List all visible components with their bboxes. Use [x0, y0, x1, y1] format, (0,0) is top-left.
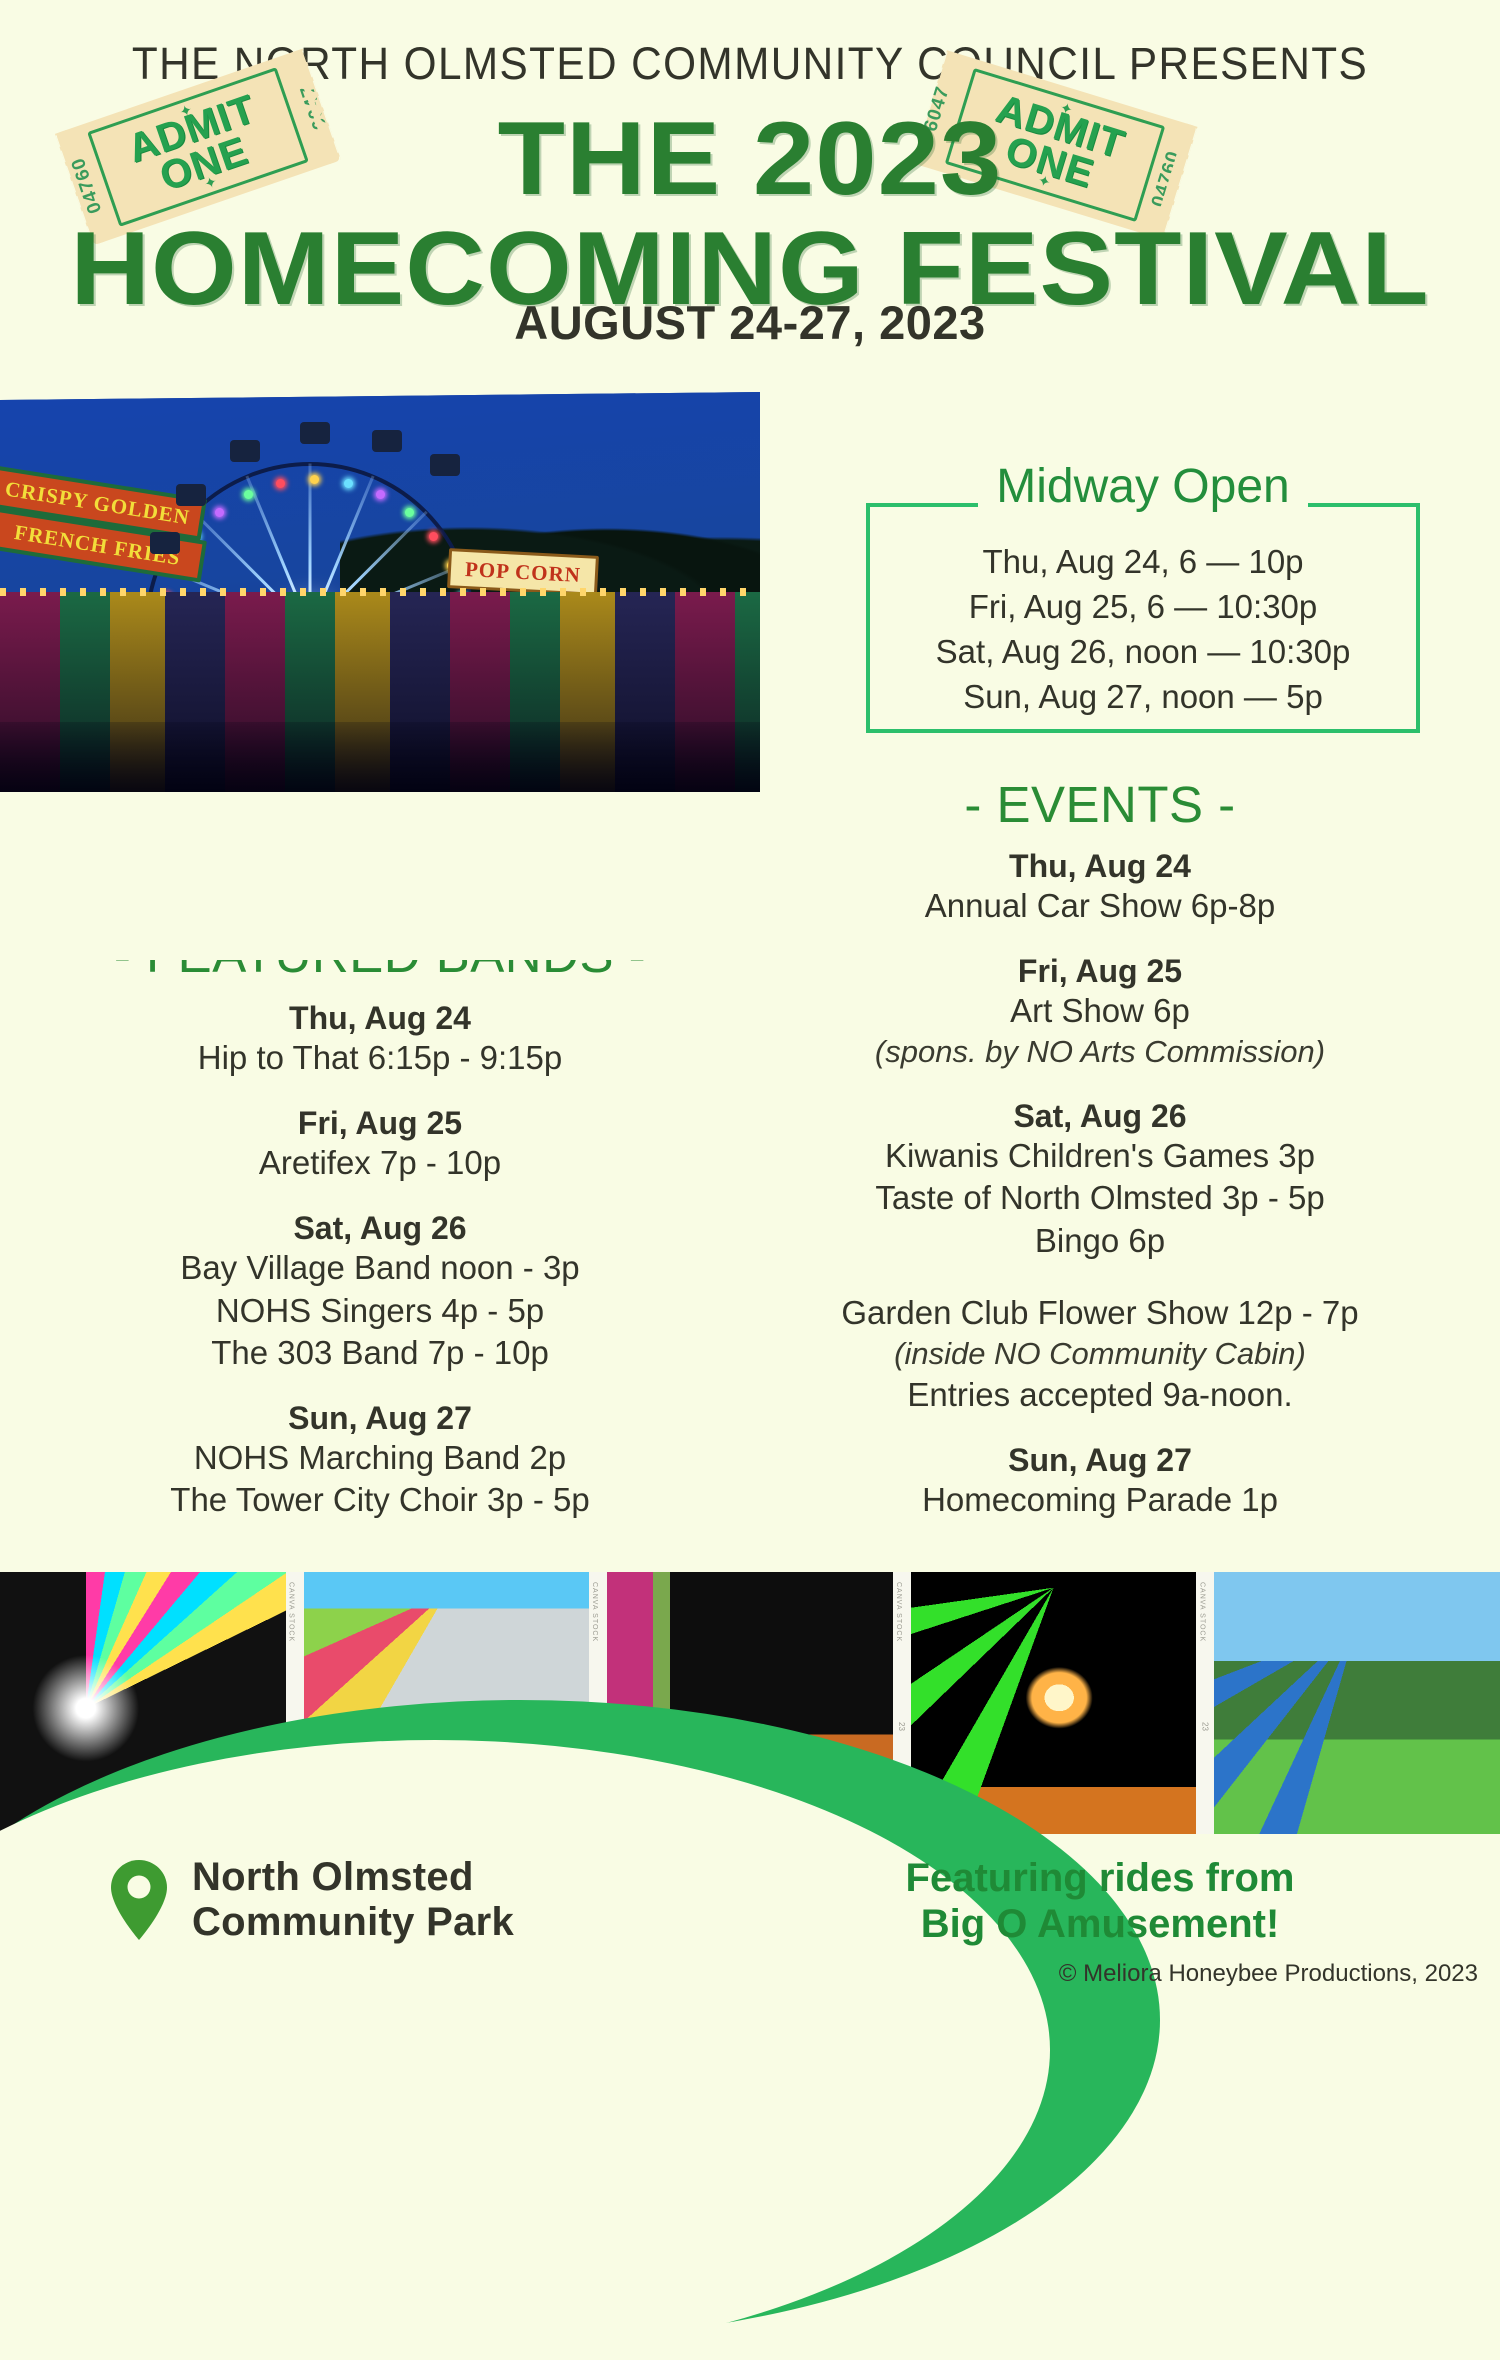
ferris-wheel-light [276, 479, 285, 488]
ferris-wheel-light [215, 508, 224, 517]
midway-hours-row: Sun, Aug 27, noon — 5p [866, 675, 1420, 720]
schedule-day-label: Thu, Aug 24 [40, 1000, 720, 1037]
schedule-entry: Entries accepted 9a-noon. [760, 1374, 1440, 1416]
schedule-spacer [760, 1262, 1440, 1292]
ferris-wheel-car [230, 440, 260, 462]
midway-hours-row: Sat, Aug 26, noon — 10:30p [866, 630, 1420, 675]
midway-hours-row: Thu, Aug 24, 6 — 10p [866, 540, 1420, 585]
schedule-entry: The Tower City Choir 3p - 5p [40, 1479, 720, 1521]
strip-separator: CANVA STOCK23 [1196, 1572, 1214, 1834]
rides-line-2: Big O Amusement! [760, 1901, 1440, 1947]
schedule-day-label: Sun, Aug 27 [760, 1442, 1440, 1479]
schedule-entry: Annual Car Show 6p-8p [760, 885, 1440, 927]
bands-heading-notch [90, 900, 650, 960]
ferris-wheel-light [376, 490, 385, 499]
schedule-day-label: Sat, Aug 26 [40, 1210, 720, 1247]
stall-lights [0, 588, 760, 596]
copyright-notice: © Meliora Honeybee Productions, 2023 [1059, 1960, 1478, 1988]
ferris-wheel-light [429, 532, 438, 541]
schedule-day-label: Thu, Aug 24 [760, 848, 1440, 885]
schedule-note: (spons. by NO Arts Commission) [760, 1032, 1440, 1072]
booth-sign-text: POP CORN [450, 551, 596, 592]
ferris-wheel-car [430, 454, 460, 476]
strip-photo-5 [1214, 1572, 1500, 1834]
midway-hours-list: Thu, Aug 24, 6 — 10pFri, Aug 25, 6 — 10:… [866, 540, 1420, 720]
ferris-wheel-photo: CRISPY GOLDEN FRENCH FRIES POP CORN Hawa… [0, 392, 760, 792]
midway-hours-row: Fri, Aug 25, 6 — 10:30p [866, 585, 1420, 630]
festival-dates: AUGUST 24-27, 2023 [0, 295, 1500, 350]
venue-block: North Olmsted Community Park [108, 1855, 514, 1945]
venue-name: North Olmsted Community Park [192, 1855, 514, 1945]
venue-line-2: Community Park [192, 1900, 514, 1945]
schedule-entry: Hip to That 6:15p - 9:15p [40, 1037, 720, 1079]
ferris-wheel-car [300, 422, 330, 444]
ferris-wheel-light [244, 490, 253, 499]
schedule-entry: NOHS Marching Band 2p [40, 1437, 720, 1479]
midway-title-wrapper: Midway Open [866, 462, 1420, 512]
ferris-wheel-car [150, 532, 180, 554]
crowd-silhouettes [0, 722, 760, 792]
schedule-entry: Bay Village Band noon - 3p [40, 1247, 720, 1289]
schedule-entry: Taste of North Olmsted 3p - 5p [760, 1177, 1440, 1219]
schedule-entry: NOHS Singers 4p - 5p [40, 1290, 720, 1332]
schedule-entry: Art Show 6p [760, 990, 1440, 1032]
schedule-entry: Garden Club Flower Show 12p - 7p [760, 1292, 1440, 1334]
schedule-day-label: Sat, Aug 26 [760, 1098, 1440, 1135]
ferris-wheel-light [344, 479, 353, 488]
schedule-entry: Aretifex 7p - 10p [40, 1142, 720, 1184]
ferris-wheel-car [176, 484, 206, 506]
schedule-day-label: Sun, Aug 27 [40, 1400, 720, 1437]
rides-line-1: Featuring rides from [760, 1855, 1440, 1901]
rides-provider: Featuring rides from Big O Amusement! [760, 1855, 1440, 1948]
events-heading: - EVENTS - [760, 775, 1440, 834]
schedule-entry: Homecoming Parade 1p [760, 1479, 1440, 1521]
schedule-entry: Bingo 6p [760, 1220, 1440, 1262]
location-pin-icon [108, 1858, 170, 1942]
ferris-wheel-light [310, 475, 319, 484]
venue-line-1: North Olmsted [192, 1855, 514, 1900]
featured-bands-schedule: Thu, Aug 24Hip to That 6:15p - 9:15pFri,… [40, 1000, 720, 1522]
schedule-day-label: Fri, Aug 25 [40, 1105, 720, 1142]
midway-title: Midway Open [978, 462, 1307, 512]
schedule-entry: The 303 Band 7p - 10p [40, 1332, 720, 1374]
ferris-wheel-light [405, 508, 414, 517]
poster-title-line-1: THE 2023 [0, 100, 1500, 219]
schedule-entry: Kiwanis Children's Games 3p [760, 1135, 1440, 1177]
events-schedule: Thu, Aug 24Annual Car Show 6p-8pFri, Aug… [760, 848, 1440, 1521]
schedule-day-label: Fri, Aug 25 [760, 953, 1440, 990]
schedule-note: (inside NO Community Cabin) [760, 1334, 1440, 1374]
ferris-wheel-car [372, 430, 402, 452]
